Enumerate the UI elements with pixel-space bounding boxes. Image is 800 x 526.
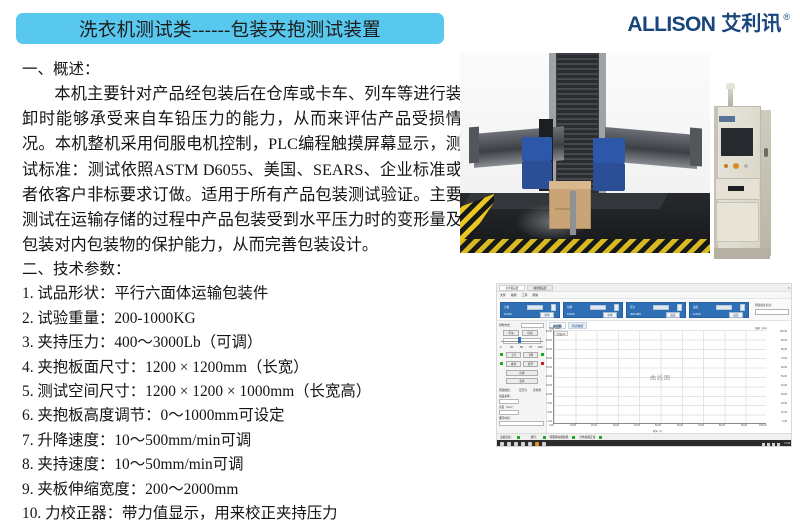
y-tick: 50.00: [781, 375, 787, 378]
software-statusbar: 设备连接： 通讯： 伺服驱动器使能 力传感器正常: [497, 433, 792, 440]
hazard-stripe-front: [460, 239, 710, 253]
spec-item: 3. 夹持压力：400～3000Lb（可调）: [22, 331, 462, 355]
battery-icon[interactable]: [777, 443, 780, 446]
tab-test-data[interactable]: 测试数据: [568, 322, 588, 329]
note-input[interactable]: [755, 309, 789, 315]
clamp-button[interactable]: 夹紧: [506, 361, 521, 367]
control-mode-label: 控制方式：: [499, 323, 512, 327]
start-menu-icon[interactable]: [500, 442, 504, 446]
volume-icon[interactable]: [772, 443, 775, 446]
y-tick: 30.00: [781, 393, 787, 396]
close-icon[interactable]: ×: [788, 285, 790, 291]
readout-zero-button[interactable]: 清零: [603, 312, 617, 318]
hold-time-label: 保压时间：: [499, 416, 512, 420]
x-tick: 80.00: [719, 424, 725, 427]
slide-title-banner: 洗衣机测试类------包装夹抱测试装置: [16, 13, 444, 44]
spec-item: 2. 试验重量：200-1000KG: [22, 307, 462, 331]
section-heading-overview: 一、概述：: [22, 58, 462, 82]
search-icon[interactable]: [507, 442, 511, 446]
cabinet-push-button: [744, 164, 748, 168]
chart-legend: 力值-Lb: [554, 331, 568, 336]
spec-item: 5. 测试空间尺寸：1200 × 1200 × 1000mm（长宽高）: [22, 380, 462, 404]
software-tab-main[interactable]: 主界面设置: [499, 285, 525, 291]
cabinet-base: [714, 248, 770, 259]
note-label: 测试备注信息：: [755, 303, 774, 307]
spec-item: 8. 夹持速度：10～50mm/min可调: [22, 453, 462, 477]
network-icon[interactable]: [767, 443, 770, 446]
folder-icon[interactable]: [535, 442, 539, 446]
section-body-overview: 本机主要针对产品经包装后在仓库或卡车、列车等进行装卸时能够承受来自车铅压力的能力…: [22, 82, 462, 258]
x-tick: 60.00: [677, 424, 683, 427]
x-tick: 0.00: [549, 424, 554, 427]
height-input[interactable]: [499, 410, 519, 415]
chart-watermark: 曲线图: [554, 330, 767, 424]
menu-tools[interactable]: 工具: [522, 293, 528, 297]
cabinet-side-panel: [760, 110, 771, 256]
machine-blue-clamp-right-lower: [593, 163, 625, 191]
status-led-clamp: [500, 362, 503, 365]
status-led-up: [500, 353, 503, 356]
cabinet-emergency-button: [733, 163, 739, 169]
test-software-screenshot: 主界面设置 曲线图设置 × 文件 编辑 工具 帮助 力值 0.000 清零 位移…: [496, 283, 792, 447]
cabinet-signal-tower-lamp: [726, 83, 735, 89]
chart-plot-area[interactable]: 曲线图: [553, 330, 766, 424]
x-tick: 100.00: [759, 424, 766, 427]
page-title: 洗衣机测试类------包装夹抱测试装置: [79, 16, 381, 42]
height-label: 高度（mm）：: [499, 405, 516, 409]
logo-latin-text: ALLISON: [627, 12, 715, 37]
servo-label: 伺服驱动器使能: [550, 435, 569, 439]
speed-slider-handle[interactable]: [518, 337, 521, 343]
task-view-icon[interactable]: [514, 442, 518, 446]
allison-logo: ALLISON 艾利讯 ®: [627, 12, 790, 42]
x-tick: 30.00: [613, 424, 619, 427]
servo-led: [572, 436, 575, 439]
test-mode-option-force[interactable]: 定压力: [519, 388, 527, 392]
cabinet-signal-tower: [728, 86, 733, 107]
y-tick: 10.00: [546, 393, 552, 396]
y-tick: 60.00: [781, 366, 787, 369]
cabinet-brand-label: [719, 116, 735, 122]
y-tick: 35.00: [546, 348, 552, 351]
chevron-up-icon[interactable]: [614, 304, 619, 311]
windows-taskbar: 14:28: [497, 440, 792, 447]
readout-zero-button[interactable]: 清零: [540, 312, 554, 318]
y-tick: 30.00: [546, 357, 552, 360]
machine-center-post: [570, 191, 576, 235]
cabinet-side-handle: [764, 148, 768, 157]
readout-card-pressure: 压力 400.000 设定: [626, 302, 686, 318]
readout-card-force: 力值 0.000 清零: [500, 302, 560, 318]
machine-blue-clamp-right-upper: [593, 138, 625, 163]
slider-tick: 0: [500, 346, 502, 349]
comm-label: 通讯：: [530, 435, 538, 439]
chevron-up-icon[interactable]: [677, 304, 682, 311]
emergency-stop-button[interactable]: 急停: [506, 378, 538, 384]
zero-button[interactable]: 归零: [506, 370, 538, 376]
y-tick: 20.00: [546, 375, 552, 378]
taskbar-clock[interactable]: 14:28: [784, 443, 790, 445]
readout-value: 0.000: [567, 312, 575, 316]
machine-beam-end-cap-right: [690, 127, 702, 166]
chevron-up-icon[interactable]: [551, 304, 556, 311]
x-tick: 90.00: [741, 424, 747, 427]
readout-unit-field[interactable]: [590, 305, 606, 310]
readout-card-speed: 速度 0.000 设定: [689, 302, 749, 318]
software-titlebar: 主界面设置 曲线图设置 ×: [497, 284, 792, 292]
readout-value: 0.000: [693, 312, 701, 316]
readout-label: 位移: [567, 305, 572, 309]
machine-beam-end-cap-left: [469, 127, 479, 164]
readout-set-button[interactable]: 设定: [729, 312, 743, 318]
spec-item: 10. 力校正器：带力值显示，用来校正夹持压力: [22, 502, 462, 526]
readout-card-displacement: 位移 0.000 清零: [563, 302, 623, 318]
control-mode-value[interactable]: [521, 323, 544, 328]
move-up-button[interactable]: 上升: [506, 352, 521, 358]
cabinet-indicator-lamp: [724, 164, 728, 168]
y-tick: 5.00: [547, 402, 552, 405]
x-tick: 70.00: [698, 424, 704, 427]
pinned-app-icon[interactable]: [528, 442, 532, 446]
x-tick: 40.00: [634, 424, 640, 427]
sensor-label: 力传感器正常: [579, 435, 595, 439]
readout-unit-field[interactable]: [653, 305, 669, 310]
y-tick: 0.00: [547, 411, 552, 414]
section-heading-specs: 二、技术参数：: [22, 258, 462, 282]
manual-mode-button[interactable]: 手动: [503, 330, 519, 336]
readout-value: 0.000: [504, 312, 512, 316]
x-tick: 10.00: [570, 424, 576, 427]
sample-name-label: 试品名称：: [499, 394, 512, 398]
comm-led: [543, 436, 546, 439]
tray-icon[interactable]: [762, 443, 765, 446]
registered-trademark-icon: ®: [783, 12, 790, 23]
y-axis-right-ticks: 100.00 90.00 80.00 70.00 60.00 50.00 40.…: [767, 330, 787, 424]
cabinet-touchscreen: [719, 126, 755, 158]
software-menubar: 文件 编辑 工具 帮助: [497, 292, 792, 299]
readout-value: 400.000: [630, 312, 641, 316]
connection-label: 设备连接：: [500, 435, 513, 439]
y-tick: 100.00: [780, 330, 787, 333]
test-mode-label: 测试模式：: [499, 388, 512, 392]
connection-led: [517, 436, 520, 439]
y-axis-left-ticks: 45.00 40.00 35.00 30.00 25.00 20.00 15.0…: [535, 330, 552, 424]
test-app-icon[interactable]: [542, 442, 546, 446]
control-cabinet-photo: [706, 82, 776, 262]
y-tick: 80.00: [781, 348, 787, 351]
y-tick: 20.00: [781, 402, 787, 405]
menu-edit[interactable]: 编辑: [511, 293, 517, 297]
spec-item: 1. 试品形状：平行六面体运输包装件: [22, 282, 462, 306]
description-column: 一、概述： 本机主要针对产品经包装后在仓库或卡车、列车等进行装卸时能够承受来自车…: [22, 58, 462, 526]
sample-name-input[interactable]: [499, 399, 519, 404]
y-tick: 10.00: [781, 411, 787, 414]
menu-file[interactable]: 文件: [500, 293, 506, 297]
machine-blue-clamp-left-upper: [522, 137, 552, 161]
cardboard-box-flap: [549, 181, 591, 189]
x-tick: 20.00: [591, 424, 597, 427]
y-tick: 0.00: [782, 420, 787, 423]
y-tick: 90.00: [781, 339, 787, 342]
cabinet-drawer-slot: [728, 186, 744, 191]
slide-header: 洗衣机测试类------包装夹抱测试装置 ALLISON 艾利讯 ®: [0, 0, 800, 56]
chevron-up-icon[interactable]: [740, 304, 745, 311]
y-tick: 15.00: [546, 384, 552, 387]
readout-label: 压力: [630, 305, 635, 309]
readout-unit-field[interactable]: [716, 305, 732, 310]
sensor-led: [599, 436, 602, 439]
software-tab-chart-settings[interactable]: 曲线图设置: [527, 285, 553, 291]
slider-tick: 25: [510, 346, 513, 349]
y-tick: 70.00: [781, 357, 787, 360]
readout-unit-field[interactable]: [527, 305, 543, 310]
browser-icon[interactable]: [521, 442, 525, 446]
spec-item: 9. 夹板伸缩宽度：200～2000mm: [22, 478, 462, 502]
spec-item: 6. 夹抱板高度调节：0～1000mm可设定: [22, 404, 462, 428]
y-tick: 25.00: [546, 366, 552, 369]
machine-blue-clamp-left-lower: [522, 161, 552, 189]
cabinet-lower-door: [716, 202, 759, 242]
system-tray: 14:28: [762, 443, 790, 446]
slider-tick: 50: [520, 346, 523, 349]
y-tick: -1.00: [547, 420, 552, 423]
menu-help[interactable]: 帮助: [532, 293, 538, 297]
y-tick: 45.00: [546, 330, 552, 333]
spec-item: 4. 夹抱板面尺寸：1200 × 1200mm（长宽）: [22, 356, 462, 380]
y-tick: 40.00: [546, 339, 552, 342]
slider-tick: 75: [529, 346, 532, 349]
readout-set-button[interactable]: 设定: [666, 312, 680, 318]
readout-label: 力值: [504, 305, 509, 309]
y-tick: 40.00: [781, 384, 787, 387]
x-tick: 50.00: [655, 424, 661, 427]
software-readout-ribbon: 力值 0.000 清零 位移 0.000 清零 压力 400.000 设定 速度…: [497, 299, 792, 321]
readout-label: 速度: [693, 305, 698, 309]
clamp-test-machine-photo: [460, 53, 710, 253]
logo-cjk-text: 艾利讯: [721, 12, 781, 37]
